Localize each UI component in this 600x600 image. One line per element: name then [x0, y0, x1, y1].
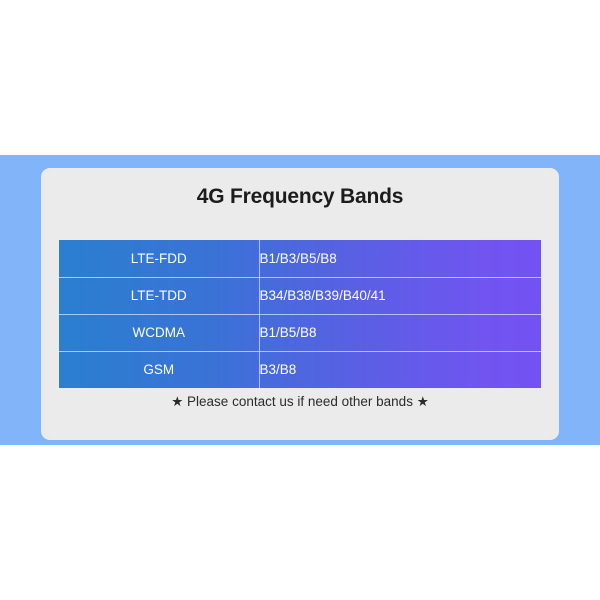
bands-cell: B3/B8 — [259, 351, 541, 388]
bands-cell: B1/B3/B5/B8 — [259, 240, 541, 277]
table-row: LTE-FDD B1/B3/B5/B8 — [59, 240, 541, 277]
technology-cell: LTE-FDD — [59, 240, 259, 277]
table-row: LTE-TDD B34/B38/B39/B40/41 — [59, 277, 541, 314]
table-row: WCDMA B1/B5/B8 — [59, 314, 541, 351]
table-row: GSM B3/B8 — [59, 351, 541, 388]
page-title: 4G Frequency Bands — [41, 185, 559, 209]
contact-note: ★ Please contact us if need other bands … — [41, 394, 559, 410]
technology-cell: LTE-TDD — [59, 277, 259, 314]
frequency-bands-table: LTE-FDD B1/B3/B5/B8 LTE-TDD B34/B38/B39/… — [59, 240, 541, 388]
bands-cell: B34/B38/B39/B40/41 — [259, 277, 541, 314]
frequency-bands-card: 4G Frequency Bands LTE-FDD B1/B3/B5/B8 L… — [41, 168, 559, 440]
bands-cell: B1/B5/B8 — [259, 314, 541, 351]
technology-cell: GSM — [59, 351, 259, 388]
technology-cell: WCDMA — [59, 314, 259, 351]
